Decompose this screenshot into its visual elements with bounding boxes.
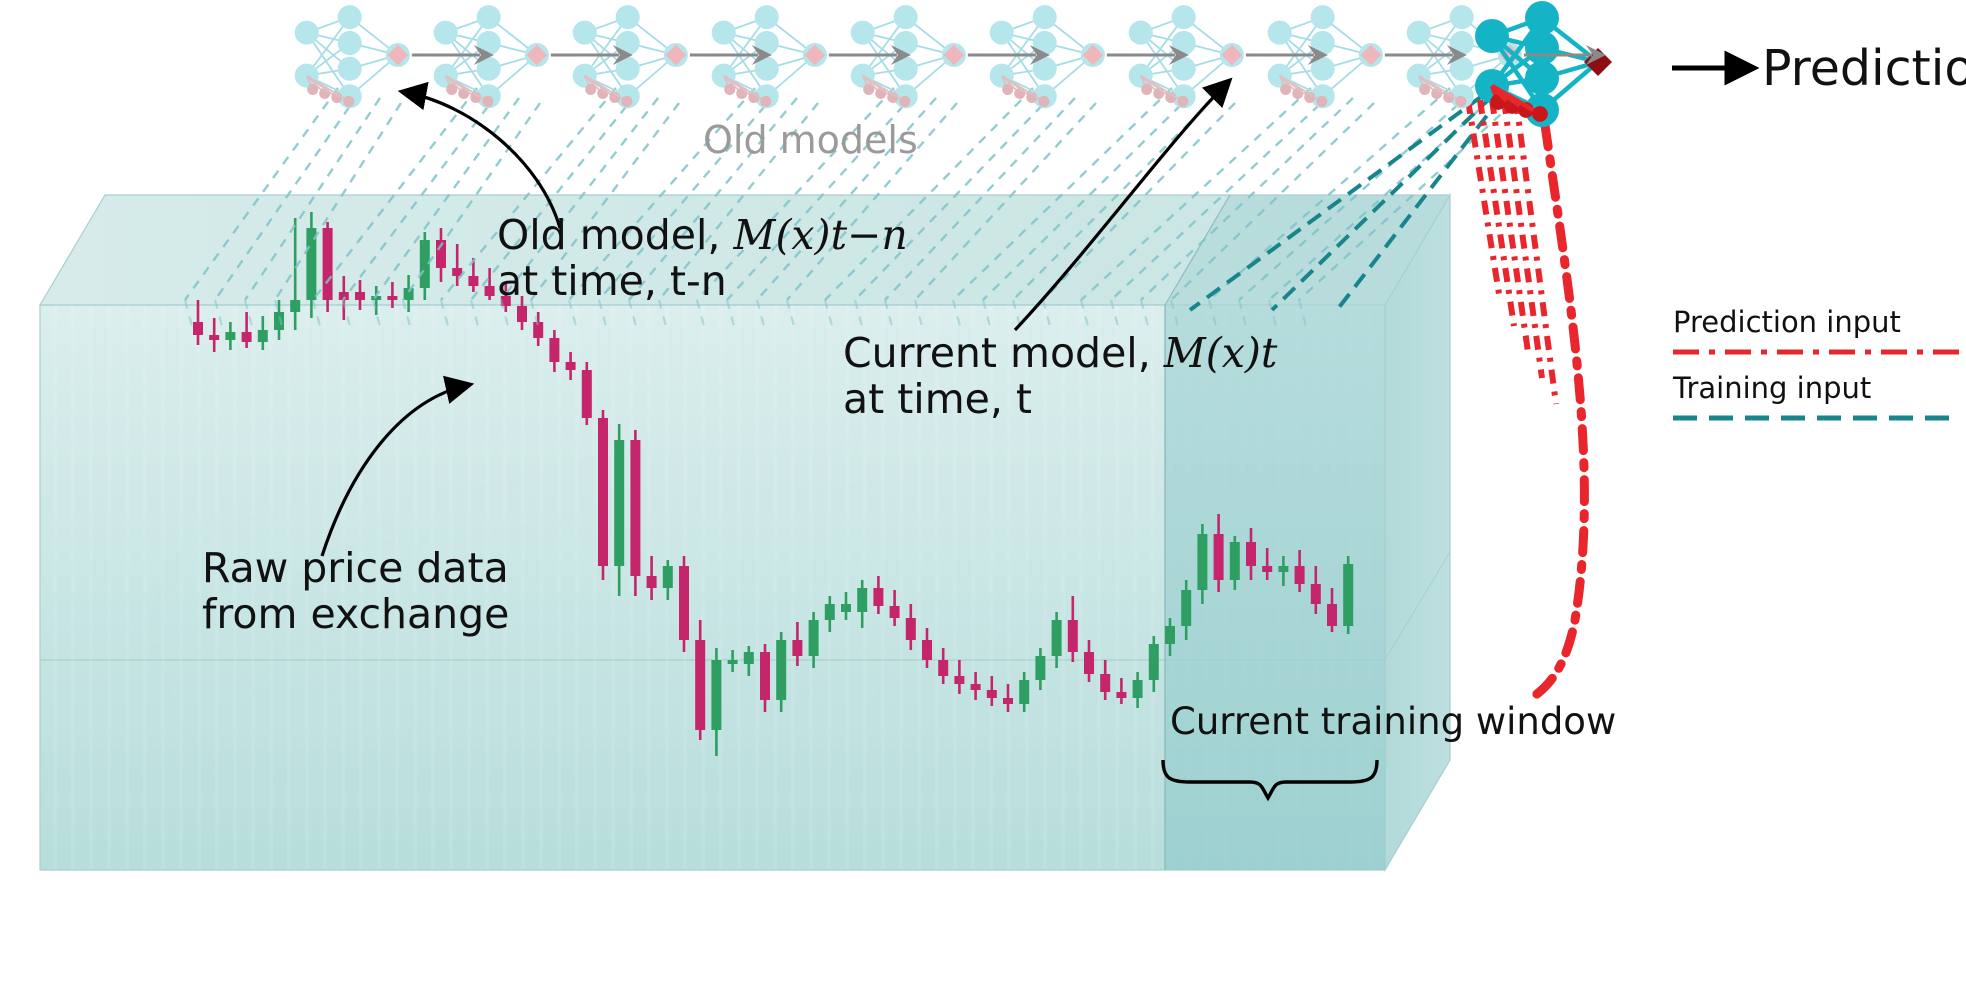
legend-prediction-input-label: Prediction input <box>1673 305 1901 339</box>
current-model-callout-text: Current model, <box>843 329 1164 377</box>
current-training-window-label: Current training window <box>1170 700 1616 743</box>
raw-price-line-2: from exchange <box>202 591 509 637</box>
old-model-callout-label: Old model, M(x)t−n at time, t-n <box>497 212 908 304</box>
current-model-callout-time: at time, t <box>843 376 1277 422</box>
prediction-label: Prediction <box>1762 40 1966 97</box>
legend-training-input-label: Training input <box>1673 371 1871 405</box>
legend-layer <box>0 0 1966 981</box>
current-model-math-arg: (x) <box>1206 329 1261 377</box>
raw-price-line-1: Raw price data <box>202 545 509 591</box>
raw-price-callout-label: Raw price data from exchange <box>202 545 509 637</box>
old-models-label: Old models <box>703 118 918 162</box>
old-model-callout-time: at time, t-n <box>497 258 908 304</box>
old-model-callout-text: Old model, <box>497 211 733 259</box>
old-model-math-base: M <box>733 211 775 259</box>
old-model-math-subscript: t−n <box>831 211 908 259</box>
current-model-math-base: M <box>1164 329 1206 377</box>
current-model-math-subscript: t <box>1261 329 1277 377</box>
current-model-callout-label: Current model, M(x)t at time, t <box>843 330 1277 422</box>
freqai-diagram: ₿ FreqAI <box>0 0 1966 981</box>
old-model-math-arg: (x) <box>775 211 830 259</box>
